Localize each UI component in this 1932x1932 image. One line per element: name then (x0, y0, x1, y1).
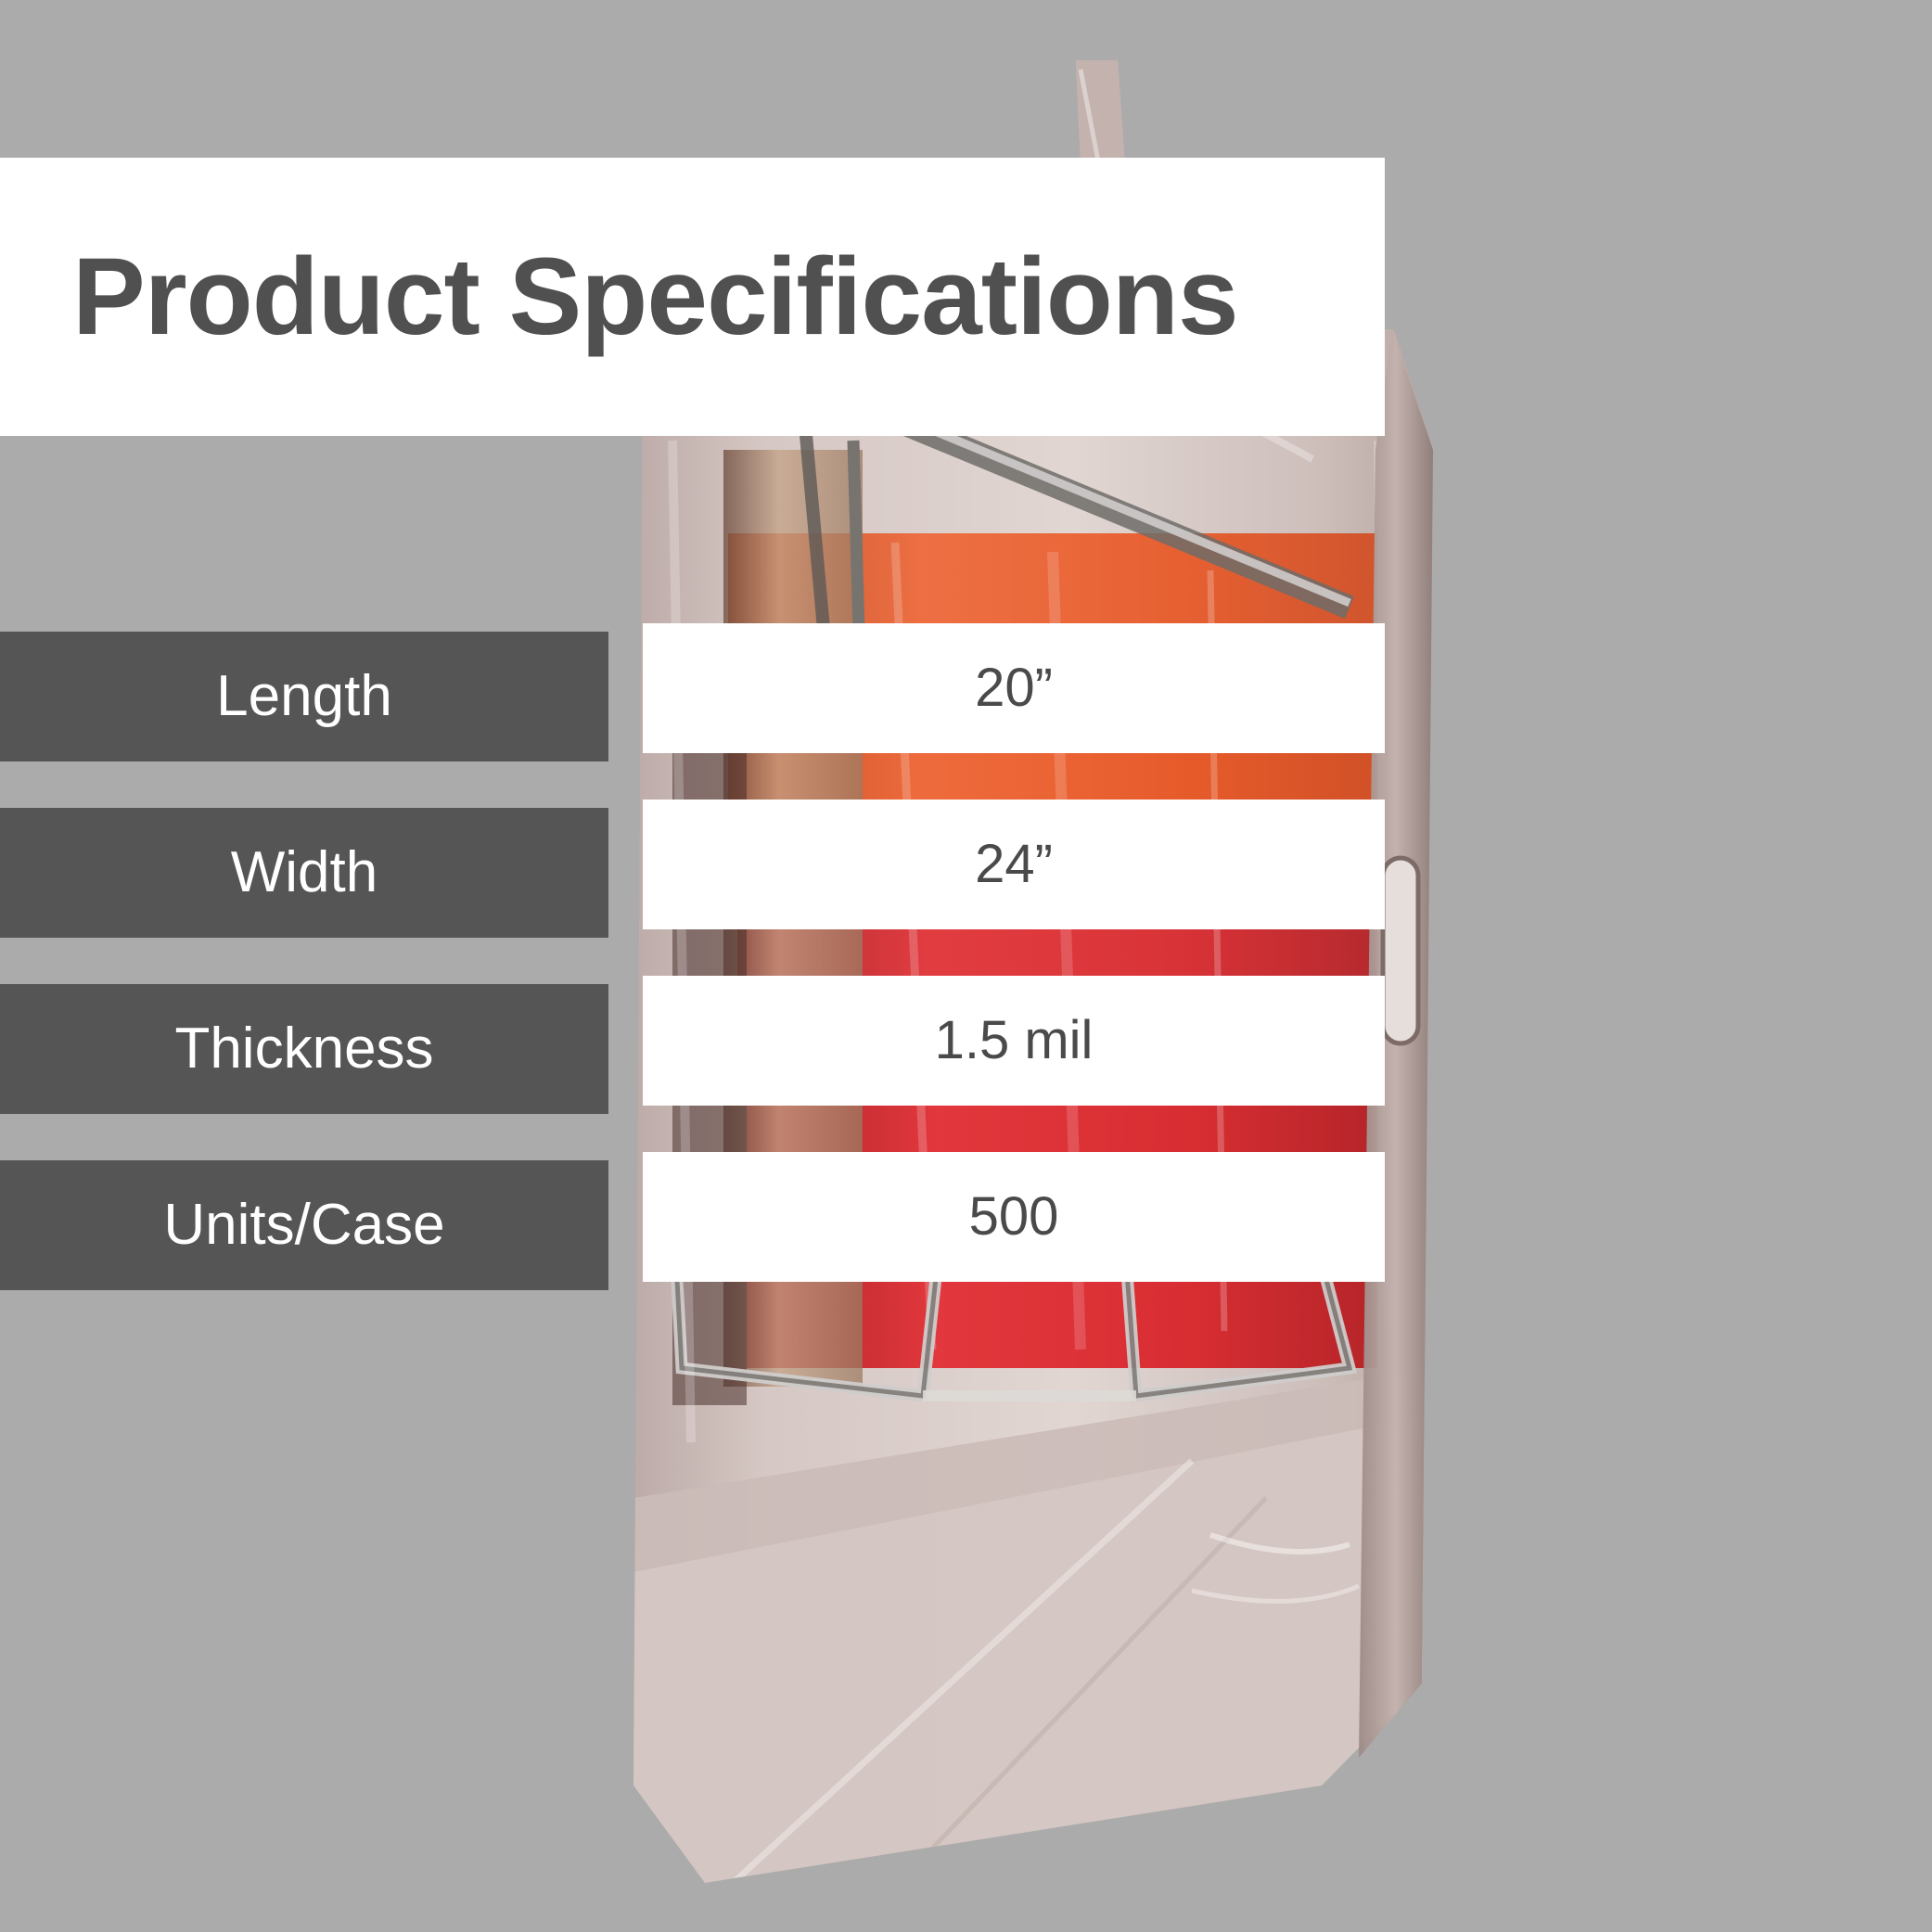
spec-label-thickness: Thickness (0, 984, 608, 1114)
title-banner: Product Specifications (0, 158, 1385, 436)
spec-label-width: Width (0, 808, 608, 938)
spec-label-text: Thickness (174, 1020, 433, 1078)
spec-value-text: 1.5 mil (935, 1014, 1094, 1068)
spec-value-units-per-case: 500 (643, 1152, 1385, 1282)
spec-label-units-per-case: Units/Case (0, 1160, 608, 1290)
spec-label-length: Length (0, 632, 608, 761)
spec-label-text: Width (231, 844, 377, 902)
spec-value-thickness: 1.5 mil (643, 976, 1385, 1106)
spec-label-text: Length (216, 668, 392, 725)
spec-value-text: 24” (975, 838, 1053, 891)
spec-value-text: 20” (975, 661, 1053, 715)
spec-value-width: 24” (643, 800, 1385, 929)
page-title: Product Specifications (72, 242, 1238, 352)
spec-value-text: 500 (969, 1190, 1059, 1244)
spec-label-text: Units/Case (163, 1196, 444, 1254)
spec-value-length: 20” (643, 623, 1385, 753)
product-spec-card: Product Specifications Length 20” Width … (0, 0, 1932, 1932)
